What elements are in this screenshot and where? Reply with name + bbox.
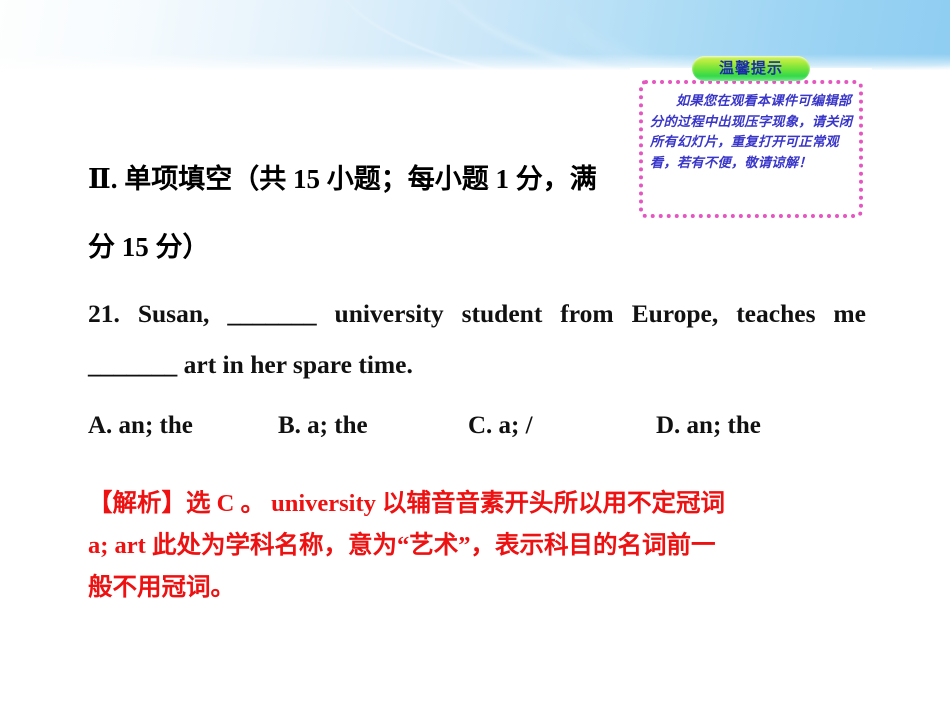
notice-body-text: 如果您在观看本课件可编辑部分的过程中出现压字现象，请关闭所有幻灯片，重复打开可正… — [650, 92, 858, 174]
explanation-line-1: 【解析】选 C 。 university 以辅音音素开头所以用不定冠词 — [88, 483, 866, 525]
notice-badge: 温馨提示 — [692, 56, 810, 81]
answer-options: A. an; the B. a; the C. a; / D. an; the — [88, 409, 866, 443]
option-c[interactable]: C. a; / — [468, 409, 533, 443]
section-title: Ⅱ. 单项填空（共 15 小题；每小题 1 分，满分 15 分） — [88, 145, 608, 281]
slide-canvas: 温馨提示 如果您在观看本课件可编辑部分的过程中出现压字现象，请关闭所有幻灯片，重… — [0, 0, 950, 713]
option-a[interactable]: A. an; the — [88, 409, 193, 443]
explanation-line-2: a; art 此处为学科名称，意为“艺术”，表示科目的名词前一 — [88, 525, 866, 567]
option-b[interactable]: B. a; the — [278, 409, 368, 443]
option-d[interactable]: D. an; the — [656, 409, 761, 443]
question-stem: 21. Susan, _______ university student fr… — [88, 288, 866, 390]
notice-badge-label: 温馨提示 — [719, 61, 783, 76]
header-gradient-band — [0, 0, 950, 70]
explanation-line-3: 般不用冠词。 — [88, 567, 866, 609]
explanation-block: 【解析】选 C 。 university 以辅音音素开头所以用不定冠词 a; a… — [88, 483, 866, 609]
notice-card: 温馨提示 如果您在观看本课件可编辑部分的过程中出现压字现象，请关闭所有幻灯片，重… — [630, 68, 872, 227]
